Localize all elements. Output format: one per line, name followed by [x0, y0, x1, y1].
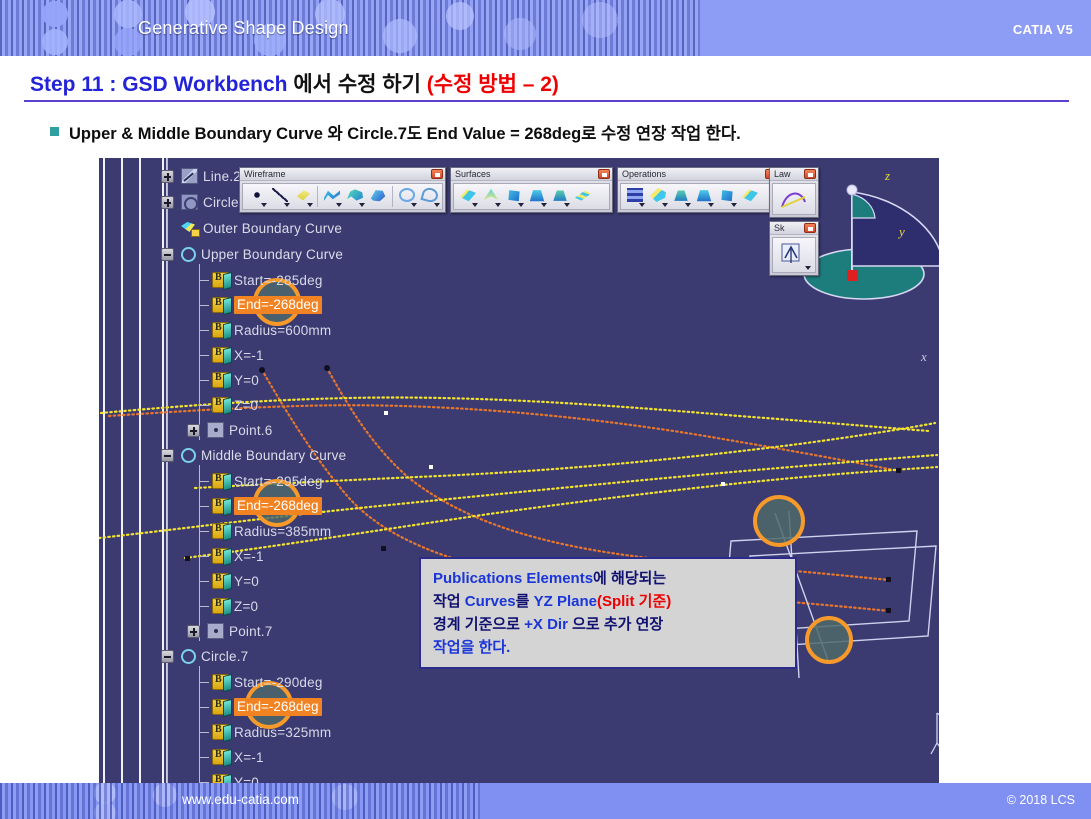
toolbar-wireframe[interactable]: Wireframe	[239, 167, 446, 213]
tree-item-circle7-radius[interactable]: Radius=325mm	[199, 720, 331, 744]
tree-item-point7[interactable]: Point.7	[187, 619, 272, 643]
axis-label-x: x	[920, 349, 927, 364]
tree-item-label: Radius=385mm	[234, 524, 331, 539]
tree-item-middle-end[interactable]: End=-268deg	[199, 494, 322, 518]
parameter-icon	[212, 548, 229, 564]
point-icon	[207, 422, 224, 438]
near-tool-button[interactable]	[739, 186, 761, 207]
bullet-row: Upper & Middle Boundary Curve 와 Circle.7…	[50, 120, 741, 144]
header-banner: Generative Shape Design CATIA V5	[0, 0, 1091, 56]
annotation-line2-f: 기준)	[639, 593, 672, 610]
tree-item-middle-start[interactable]: Start=-295deg	[199, 469, 323, 493]
banner-product-name: CATIA V5	[1013, 22, 1073, 37]
page-title-blue: Step 11 : GSD Workbench	[30, 73, 293, 96]
tree-connector	[199, 330, 209, 331]
toolbar-wireframe-body[interactable]	[242, 183, 443, 210]
toolbar-sketcher[interactable]: Sk	[769, 221, 819, 276]
footer-bar: www.edu-catia.com © 2018 LCS	[0, 783, 1091, 819]
tree-item-label-highlighted: End=-268deg	[234, 698, 322, 716]
tree-item-label: Radius=325mm	[234, 725, 331, 740]
parallel-curve-tool-button[interactable]	[367, 186, 389, 207]
tree-item-label: Point.6	[229, 423, 272, 438]
tree-item-label-highlighted: End=-268deg	[234, 296, 322, 314]
expander-plus-icon[interactable]	[161, 196, 174, 209]
tree-item-label: Point.7	[229, 624, 272, 639]
tree-connector	[199, 506, 209, 507]
tree-connector	[199, 682, 209, 683]
point-icon	[207, 623, 224, 639]
annotation-line-1: Publications Elements에 해당되는	[433, 567, 785, 590]
parameter-icon	[212, 573, 229, 589]
plane-tool-button[interactable]	[292, 186, 314, 207]
tree-item-circle7-end[interactable]: End=-268deg	[199, 695, 322, 719]
tree-connector	[199, 556, 209, 557]
tree-item-label: Z=0	[234, 599, 258, 614]
split-tool-button[interactable]	[647, 186, 669, 207]
projection-tool-button[interactable]	[321, 186, 343, 207]
tree-connector	[199, 606, 209, 607]
toolbar-group-operations[interactable]	[624, 186, 764, 207]
axis-label-y: y	[897, 224, 905, 239]
tree-connector	[199, 732, 209, 733]
footer-copyright: © 2018 LCS	[1007, 793, 1075, 807]
intersection-tool-button[interactable]	[344, 186, 366, 207]
toolbar-surfaces-caption: Surfaces	[451, 168, 612, 181]
fillet-tool-button[interactable]	[670, 186, 692, 207]
toolbar-surfaces-body[interactable]	[453, 183, 610, 210]
spline-tool-button[interactable]	[419, 186, 441, 207]
toolbar-operations-body[interactable]	[620, 183, 777, 210]
surface-icon	[181, 220, 198, 236]
annotation-line2-d: YZ Plane	[534, 593, 597, 610]
parameter-icon	[212, 498, 229, 514]
tree-item-outer-boundary-curve[interactable]: Outer Boundary Curve	[161, 216, 342, 240]
close-icon[interactable]	[598, 169, 610, 179]
banner-circle-pattern	[0, 0, 700, 56]
tree-item-upper-boundary-curve[interactable]: Upper Boundary Curve	[161, 242, 343, 266]
tree-item-line2[interactable]: Line.2	[161, 164, 241, 188]
tree-item-upper-y[interactable]: Y=0	[199, 368, 259, 392]
extrude-tool-button[interactable]	[457, 186, 479, 207]
tree-connector	[199, 531, 209, 532]
point-tool-button[interactable]	[246, 186, 268, 207]
bullet-text: Upper & Middle Boundary Curve 와 Circle.7…	[69, 120, 741, 144]
toolbar-operations[interactable]: Operations	[617, 167, 780, 213]
expander-plus-icon[interactable]	[187, 625, 200, 638]
tree-item-label: Middle Boundary Curve	[201, 448, 346, 463]
toolbar-law[interactable]: Law	[769, 167, 819, 218]
expander-minus-icon[interactable]	[161, 248, 174, 261]
tree-item-label: Z=0	[234, 398, 258, 413]
multisection-tool-button[interactable]	[572, 186, 594, 207]
tree-connector	[199, 305, 209, 306]
parameter-icon	[212, 322, 229, 338]
axis-label-z: z	[884, 168, 890, 183]
toolbar-operations-title: Operations	[622, 169, 666, 180]
close-icon[interactable]	[804, 223, 816, 233]
annotation-line2-a: 작업	[433, 593, 465, 610]
page-title-red: (수정 방법 – 2)	[427, 73, 559, 96]
tree-item-label: Y=0	[234, 373, 259, 388]
tree-item-circle7-start[interactable]: Start=-290deg	[199, 670, 323, 694]
annotation-line-4: 작업을 한다.	[433, 636, 785, 659]
expander-plus-icon[interactable]	[187, 424, 200, 437]
annotation-line3-a: 경계 기준으로	[433, 616, 524, 633]
tree-item-label: Start=-295deg	[234, 474, 323, 489]
specification-tree[interactable]: Line.2 Circle Outer Boundary Curve Upper…	[99, 158, 429, 786]
parameter-icon	[212, 473, 229, 489]
extrapolate-tool-button[interactable]	[716, 186, 738, 207]
circle-sketch-icon	[181, 194, 198, 210]
tree-item-label: Start=-285deg	[234, 273, 323, 288]
tree-connector	[199, 757, 209, 758]
law-icon	[779, 188, 809, 210]
annotation-line-2: 작업 Curves를 YZ Plane(Split 기준)	[433, 590, 785, 613]
tree-item-middle-x[interactable]: X=-1	[199, 544, 264, 568]
revolve-tool-button[interactable]	[480, 186, 502, 207]
close-icon[interactable]	[431, 169, 443, 179]
fill-tool-button[interactable]	[549, 186, 571, 207]
tree-item-upper-radius[interactable]: Radius=600mm	[199, 318, 331, 342]
annotation-line3-b: +X Dir	[524, 616, 568, 633]
curve-icon	[181, 247, 196, 262]
tree-item-circle[interactable]: Circle	[161, 190, 239, 214]
toolbar-law-title: Law	[774, 169, 791, 180]
parameter-icon	[212, 272, 229, 288]
toolbar-law-caption: Law	[770, 168, 818, 181]
tree-item-label: X=-1	[234, 750, 264, 765]
tree-item-label: Radius=600mm	[234, 323, 331, 338]
toolbar-wireframe-caption: Wireframe	[240, 168, 445, 181]
tree-item-upper-z[interactable]: Z=0	[199, 393, 258, 417]
toolbar-sketcher-body[interactable]	[772, 237, 816, 273]
tree-item-label: X=-1	[234, 348, 264, 363]
parameter-icon	[212, 297, 229, 313]
tree-connector	[199, 481, 209, 482]
tree-item-label: Y=0	[234, 574, 259, 589]
bullet-square-icon	[50, 127, 59, 136]
tree-item-label: Line.2	[203, 169, 241, 184]
annotation-line2-e: (Split	[597, 593, 639, 610]
toolbar-sketcher-caption: Sk	[770, 222, 818, 235]
tree-item-circle7[interactable]: Circle.7	[161, 644, 248, 668]
tree-item-middle-y[interactable]: Y=0	[199, 569, 259, 593]
parameter-icon	[212, 699, 229, 715]
tree-connector	[199, 280, 209, 281]
expander-minus-icon[interactable]	[161, 650, 174, 663]
page-title: Step 11 : GSD Workbench 에서 수정 하기 (수정 방법 …	[30, 68, 559, 98]
tree-connector	[199, 380, 209, 381]
annotation-line1-rest: 에 해당되는	[593, 570, 666, 587]
toolbar-surfaces[interactable]: Surfaces	[450, 167, 613, 213]
toolbar-surfaces-title: Surfaces	[455, 169, 491, 180]
curve-icon	[181, 649, 196, 664]
footer-website-url[interactable]: www.edu-catia.com	[182, 792, 299, 807]
circle-tool-button[interactable]	[396, 186, 418, 207]
parameter-icon	[212, 523, 229, 539]
toolbar-wireframe-title: Wireframe	[244, 169, 286, 180]
tree-item-point6[interactable]: Point.6	[187, 418, 272, 442]
annotation-line1-emphasis: Publications Elements	[433, 570, 593, 587]
tree-item-label: Outer Boundary Curve	[203, 221, 342, 236]
tree-connector	[199, 405, 209, 406]
law-tool-button[interactable]	[776, 186, 812, 212]
tree-item-upper-x[interactable]: X=-1	[199, 343, 264, 367]
banner-title: Generative Shape Design	[138, 18, 349, 39]
toolbar-group-surfaces[interactable]	[457, 186, 597, 207]
catia-screenshot: z y x Line.2	[99, 158, 939, 786]
parameter-icon	[212, 397, 229, 413]
tree-item-middle-z[interactable]: Z=0	[199, 594, 258, 618]
tree-item-label: Start=-290deg	[234, 675, 323, 690]
tree-connector	[199, 355, 209, 356]
tree-item-upper-start[interactable]: Start=-285deg	[199, 268, 323, 292]
sketcher-icon	[780, 242, 808, 268]
annotation-line2-b: Curves	[465, 593, 516, 610]
toolbar-sketcher-title: Sk	[774, 223, 785, 234]
annotation-line2-c: 를	[516, 593, 534, 610]
offset-tool-button[interactable]	[503, 186, 525, 207]
title-divider	[24, 100, 1069, 102]
toolbar-group-curves[interactable]	[321, 186, 393, 207]
line-tool-button[interactable]	[269, 186, 291, 207]
tree-item-label: Circle.7	[201, 649, 248, 664]
expander-minus-icon[interactable]	[161, 449, 174, 462]
page-title-black: 에서 수정 하기	[293, 73, 426, 96]
toolbar-group-circles[interactable]	[396, 186, 444, 207]
tree-item-label: Circle	[203, 195, 239, 210]
tree-item-label: X=-1	[234, 549, 264, 564]
tree-connector	[199, 581, 209, 582]
toolbar-operations-caption: Operations	[618, 168, 779, 181]
parameter-icon	[212, 372, 229, 388]
annotation-line-3: 경계 기준으로 +X Dir 으로 추가 연장	[433, 613, 785, 636]
expander-plus-icon[interactable]	[161, 170, 174, 183]
line-icon	[181, 168, 198, 184]
parameter-icon	[212, 724, 229, 740]
slide-page: Generative Shape Design CATIA V5 Step 11…	[0, 0, 1091, 819]
tree-item-upper-end[interactable]: End=-268deg	[199, 293, 322, 317]
parameter-icon	[212, 674, 229, 690]
tree-connector	[199, 707, 209, 708]
parameter-icon	[212, 347, 229, 363]
parameter-icon	[212, 749, 229, 765]
sketcher-tool-button[interactable]	[776, 240, 812, 270]
join-tool-button[interactable]	[624, 186, 646, 207]
tree-item-label: Upper Boundary Curve	[201, 247, 343, 262]
annotation-textbox: Publications Elements에 해당되는 작업 Curves를 Y…	[419, 557, 797, 669]
sweep-tool-button[interactable]	[526, 186, 548, 207]
toolbar-law-body[interactable]	[772, 183, 816, 215]
tree-item-circle7-x[interactable]: X=-1	[199, 745, 264, 769]
tree-item-middle-radius[interactable]: Radius=385mm	[199, 519, 331, 543]
annotation-line3-c: 으로 추가 연장	[568, 616, 663, 633]
toolbar-group-points[interactable]	[246, 186, 318, 207]
translate-tool-button[interactable]	[693, 186, 715, 207]
close-icon[interactable]	[804, 169, 816, 179]
tree-item-label-highlighted: End=-268deg	[234, 497, 322, 515]
tree-item-middle-boundary-curve[interactable]: Middle Boundary Curve	[161, 443, 346, 467]
curve-icon	[181, 448, 196, 463]
parameter-icon	[212, 598, 229, 614]
